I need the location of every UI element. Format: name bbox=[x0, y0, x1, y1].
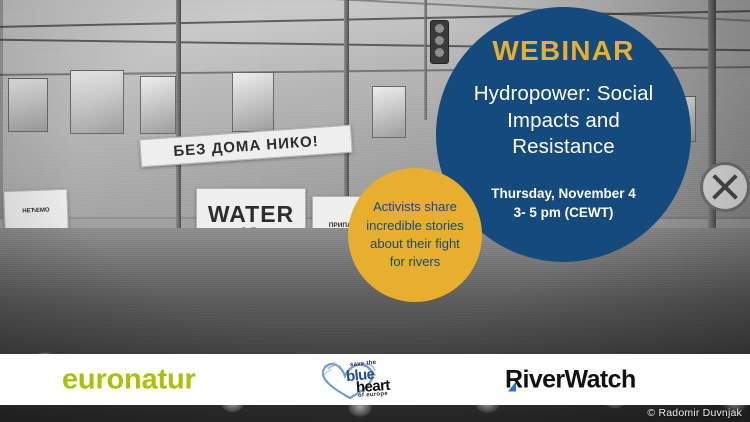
riverwatch-logo: R iverWatch bbox=[505, 367, 636, 392]
riverwatch-wordmark: iverWatch bbox=[522, 367, 635, 392]
street-poster bbox=[232, 72, 274, 132]
street-poster bbox=[140, 76, 176, 134]
yellow-text-line-1: Activists share bbox=[366, 198, 464, 216]
photo-credit: © Radomir Duvnjak bbox=[647, 407, 742, 419]
webinar-time: 3- 5 pm (CEWT) bbox=[514, 206, 614, 220]
yellow-circle-panel: Activists share incredible stories about… bbox=[348, 168, 482, 302]
webinar-poster: БЕЗ ДОМА НИКО! WATER IS LIFE! НЕЋЕМО НИЈ… bbox=[0, 0, 750, 422]
yellow-text-line-2: incredible stories bbox=[366, 217, 464, 235]
webinar-kicker-label: WEBINAR bbox=[492, 37, 634, 65]
x-street-sign bbox=[700, 162, 750, 212]
yellow-text-line-3: about their fight bbox=[366, 235, 464, 253]
street-poster bbox=[70, 70, 124, 134]
utility-pole bbox=[176, 0, 181, 250]
partner-logo-bar: euronatur save the blue heart of europe … bbox=[0, 354, 750, 405]
utility-pole bbox=[344, 0, 349, 215]
save-the-blue-heart-logo: save the blue heart of europe bbox=[318, 358, 410, 402]
utility-pole bbox=[424, 0, 427, 120]
street-poster bbox=[372, 86, 406, 138]
street-poster bbox=[8, 78, 48, 132]
riverwatch-arrow-icon bbox=[508, 381, 516, 391]
webinar-title-line-2: Impacts and Resistance bbox=[454, 108, 673, 161]
traffic-light bbox=[430, 20, 449, 64]
webinar-title: Hydropower: Social Impacts and Resistanc… bbox=[454, 81, 673, 161]
euronatur-logo: euronatur bbox=[62, 365, 196, 394]
riverwatch-initial: R bbox=[505, 367, 522, 392]
protest-sign-left: НЕЋЕМО bbox=[3, 189, 68, 233]
placard-line-water: WATER bbox=[208, 203, 294, 226]
webinar-date: Thursday, November 4 bbox=[491, 187, 636, 201]
yellow-circle-text: Activists share incredible stories about… bbox=[356, 198, 474, 272]
yellow-text-line-4: for rivers bbox=[366, 253, 464, 271]
webinar-title-line-1: Hydropower: Social bbox=[454, 81, 673, 108]
